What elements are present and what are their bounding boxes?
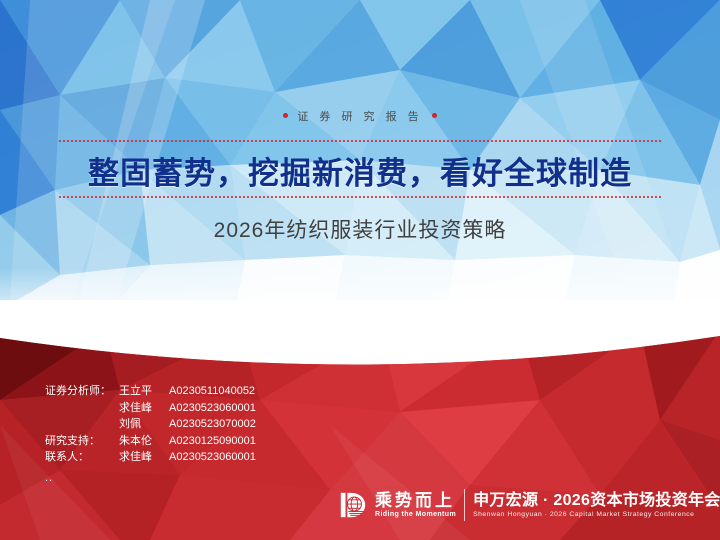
analyst-role-label: 证券分析师： <box>45 383 119 400</box>
analyst-role-label <box>45 416 119 433</box>
analyst-license-code: A0230125090001 <box>169 433 256 450</box>
analyst-license-code: A0230511040052 <box>169 383 255 400</box>
page-title: 整固蓄势，挖掘新消费，看好全球制造 <box>0 148 720 193</box>
slogan-chinese: 乘势而上 <box>375 491 456 510</box>
conference-block: 申万宏源 · 2026资本市场投资年会 Shenwan Hongyuan · 2… <box>473 491 720 520</box>
analyst-role-label: 联系人： <box>45 449 119 466</box>
analyst-license-code: A0230523060001 <box>169 449 256 466</box>
analyst-info-block: 证券分析师： 王立平 A0230511040052 求佳峰 A023052306… <box>45 383 256 466</box>
conference-branding-bar: 乘势而上 Riding the Momentum 申万宏源 · 2026资本市场… <box>338 483 720 527</box>
eyebrow-banner: 证 券 研 究 报 告 <box>0 108 720 124</box>
analyst-name: 朱本伦 <box>119 433 169 450</box>
analyst-row: 证券分析师： 王立平 A0230511040052 <box>45 383 256 400</box>
analyst-row: 求佳峰 A0230523060001 <box>45 400 256 417</box>
analyst-trailing-text: .. <box>45 472 53 484</box>
analyst-name: 求佳峰 <box>119 400 169 417</box>
analyst-role-label: 研究支持： <box>45 433 119 450</box>
analyst-name: 求佳峰 <box>119 449 169 466</box>
eyebrow-label: 证 券 研 究 报 告 <box>297 111 422 123</box>
slide-root: 证 券 研 究 报 告 整固蓄势，挖掘新消费，看好全球制造 2026年纺织服装行… <box>0 0 720 540</box>
title-rule-top <box>58 140 662 142</box>
analyst-role-label <box>45 400 119 417</box>
slogan-block: 乘势而上 Riding the Momentum <box>375 491 456 520</box>
analyst-row: 刘佩 A0230523070002 <box>45 416 256 433</box>
analyst-row: 研究支持： 朱本伦 A0230125090001 <box>45 433 256 450</box>
slogan-english: Riding the Momentum <box>375 510 456 520</box>
analyst-license-code: A0230523070002 <box>169 416 256 433</box>
bullet-dot-right-icon <box>432 113 437 118</box>
page-subtitle: 2026年纺织服装行业投资策略 <box>0 214 720 244</box>
shenwan-hongyuan-emblem-icon <box>338 490 368 520</box>
title-rule-bottom <box>58 196 662 198</box>
analyst-name: 刘佩 <box>119 416 169 433</box>
branding-divider <box>464 489 465 521</box>
analyst-row: 联系人： 求佳峰 A0230523060001 <box>45 449 256 466</box>
bullet-dot-left-icon <box>283 113 288 118</box>
conference-name-english: Shenwan Hongyuan · 2026 Capital Market S… <box>473 510 720 520</box>
conference-name-chinese: 申万宏源 · 2026资本市场投资年会 <box>473 491 720 510</box>
analyst-license-code: A0230523060001 <box>169 400 256 417</box>
analyst-name: 王立平 <box>119 383 169 400</box>
